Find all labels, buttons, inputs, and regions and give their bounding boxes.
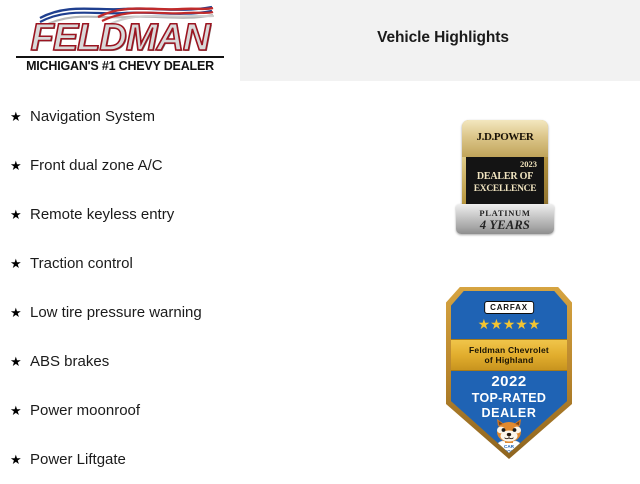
- page-title: Vehicle Highlights: [340, 29, 546, 47]
- list-item-label: Remote keyless entry: [30, 206, 174, 223]
- list-item: ★ Navigation System: [0, 92, 420, 141]
- list-item: ★ Front dual zone A/C: [0, 141, 420, 190]
- carfax-dealer-name-line1: Feldman Chevrolet: [451, 345, 567, 355]
- dealer-logo[interactable]: FELDMAN MICHIGAN'S #1 CHEVY DEALER: [0, 0, 240, 81]
- carfax-dealer-ribbon: Feldman Chevrolet of Highland: [451, 339, 567, 371]
- header-band: FELDMAN MICHIGAN'S #1 CHEVY DEALER Vehic…: [0, 0, 640, 81]
- list-item: ★ Traction control: [0, 239, 420, 288]
- list-item-label: Low tire pressure warning: [30, 304, 202, 321]
- jd-power-brand: J.D.POWER: [462, 131, 548, 143]
- carfax-dealer-name-line2: of Highland: [451, 355, 567, 365]
- award-badges: J.D.POWER 2023 DEALER OF EXCELLENCE PLAT…: [440, 95, 630, 475]
- car-fox-shirt-line2: FOX: [486, 449, 532, 453]
- star-icon: ★: [10, 288, 22, 337]
- list-item: ★ Remote keyless entry: [0, 190, 420, 239]
- list-item-label: Navigation System: [30, 108, 155, 125]
- list-item-label: Traction control: [30, 255, 133, 272]
- jd-power-award-line1: DEALER OF: [466, 171, 544, 182]
- jd-power-duration: 4 YEARS: [456, 218, 554, 233]
- logo-divider: [16, 56, 224, 58]
- star-icon: ★: [10, 92, 22, 141]
- list-item: ★ Power moonroof: [0, 386, 420, 435]
- jd-power-year: 2023: [520, 159, 537, 169]
- logo-tagline: MICHIGAN'S #1 CHEVY DEALER: [10, 59, 230, 73]
- list-item: ★ Power Liftgate: [0, 435, 420, 484]
- star-icon: ★: [10, 337, 22, 386]
- vehicle-highlights-list: ★ Navigation System ★ Front dual zone A/…: [0, 92, 420, 484]
- list-item-label: ABS brakes: [30, 353, 109, 370]
- list-item-label: Front dual zone A/C: [30, 157, 163, 174]
- carfax-award-line1: TOP-RATED: [451, 391, 567, 405]
- logo-brand-text: FELDMAN: [12, 19, 228, 57]
- carfax-top-rated-dealer-badge: CARFAX ★★★★★ Feldman Chevrolet of Highla…: [446, 287, 572, 459]
- carfax-logo: CARFAX: [484, 301, 534, 314]
- jd-power-award-line2: EXCELLENCE: [466, 184, 544, 194]
- carfax-star-rating: ★★★★★: [451, 316, 567, 333]
- list-item: ★ ABS brakes: [0, 337, 420, 386]
- car-fox-mascot-icon: CAR FOX: [486, 419, 532, 453]
- jd-power-plaque: J.D.POWER 2023 DEALER OF EXCELLENCE: [462, 120, 548, 212]
- list-item-label: Power moonroof: [30, 402, 140, 419]
- list-item: ★ Low tire pressure warning: [0, 288, 420, 337]
- carfax-year: 2022: [451, 373, 567, 390]
- jd-power-tier: PLATINUM: [456, 208, 554, 218]
- carfax-shield: CARFAX ★★★★★ Feldman Chevrolet of Highla…: [451, 291, 567, 453]
- star-icon: ★: [10, 239, 22, 288]
- star-icon: ★: [10, 435, 22, 484]
- star-icon: ★: [10, 386, 22, 435]
- dealer-logo-graphic: FELDMAN MICHIGAN'S #1 CHEVY DEALER: [10, 5, 230, 77]
- star-icon: ★: [10, 190, 22, 239]
- jd-power-award-badge: J.D.POWER 2023 DEALER OF EXCELLENCE PLAT…: [456, 120, 554, 232]
- jd-power-award-panel: 2023 DEALER OF EXCELLENCE: [466, 157, 544, 208]
- list-item-label: Power Liftgate: [30, 451, 126, 468]
- jd-power-base: PLATINUM 4 YEARS: [456, 204, 554, 234]
- star-icon: ★: [10, 141, 22, 190]
